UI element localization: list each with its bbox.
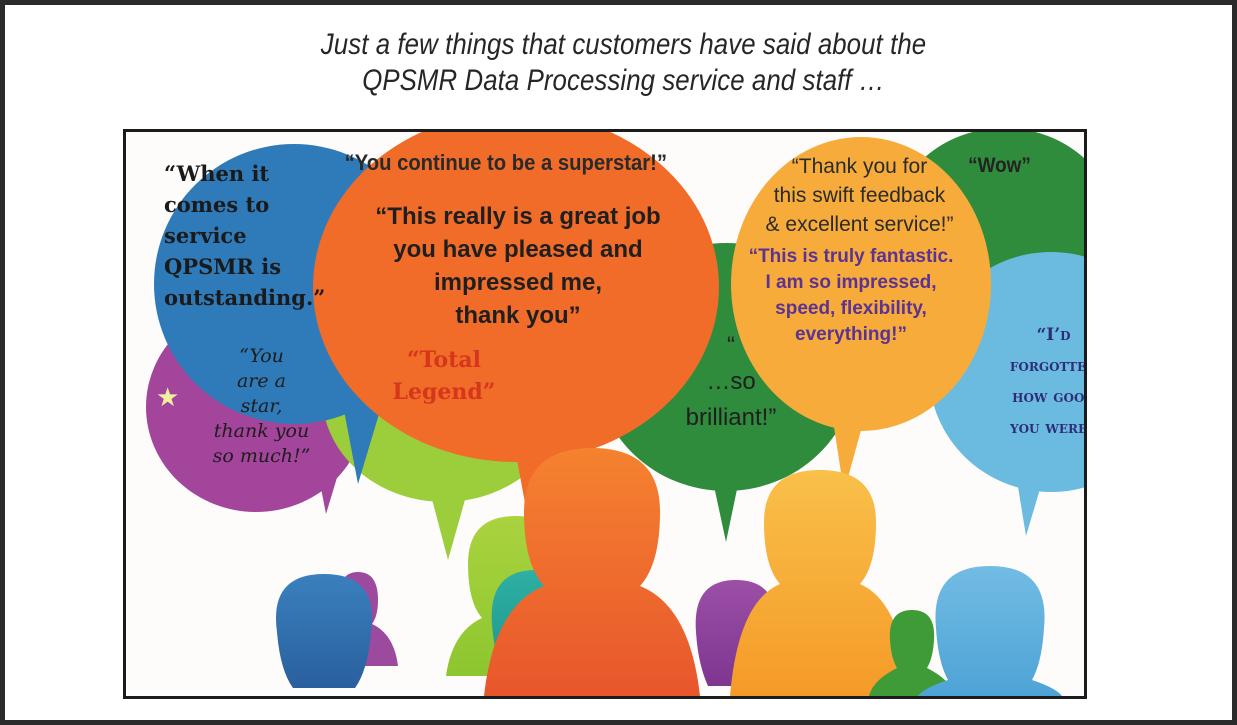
- bubble-text-green: “ …so brilliant!”: [636, 328, 826, 436]
- bubble-text-purple: “You are a star, thank you so much!”: [174, 344, 349, 469]
- bubble-text-orange-headline: “You continue to be a superstar!”: [308, 150, 704, 176]
- page-title: Just a few things that customers have sa…: [5, 27, 1237, 99]
- bubble-text-amber-top: “Thank you for this swift feedback & exc…: [742, 152, 977, 239]
- slide-canvas: Just a few things that customers have sa…: [0, 0, 1237, 725]
- bubble-text-lightblue: “I’d forgotten how good you were”: [981, 320, 1087, 444]
- title-line-1: Just a few things that customers have sa…: [92, 27, 1156, 63]
- title-line-2: QPSMR Data Processing service and staff …: [92, 63, 1156, 99]
- bubble-text-lime: “Total Legend”: [364, 344, 524, 408]
- bubble-text-orange-body: “This really is a great job you have ple…: [318, 200, 718, 332]
- star-icon: ★: [156, 384, 179, 410]
- silhouette-blue-person: [276, 574, 372, 688]
- testimonial-image: “When it comes to service QPSMR is outst…: [123, 129, 1087, 699]
- speech-bubble-illustration: “When it comes to service QPSMR is outst…: [126, 132, 1084, 696]
- bubble-text-wow: “Wow”: [950, 154, 1049, 178]
